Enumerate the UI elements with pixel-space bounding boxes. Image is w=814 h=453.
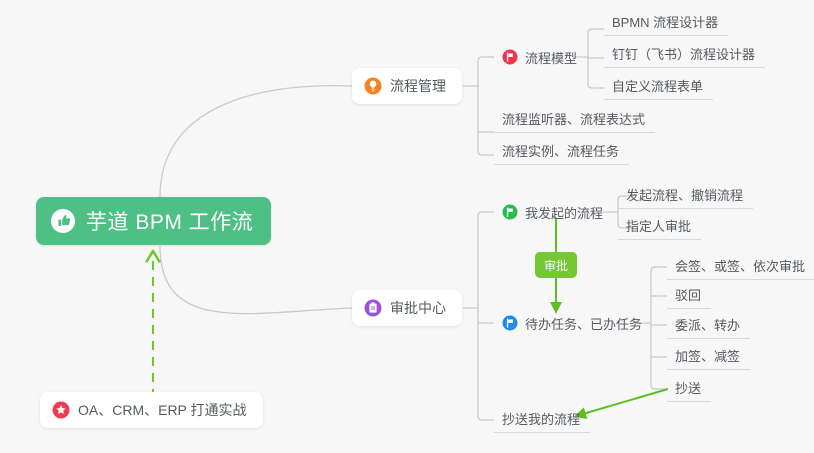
floating-tag-label: 审批 xyxy=(544,257,568,274)
flag-icon xyxy=(502,49,518,65)
node-designated-approver[interactable]: 指定人审批 xyxy=(618,212,701,240)
label-cc-to-me-processes: 抄送我的流程 xyxy=(502,409,580,428)
label-bpmn-designer: BPMN 流程设计器 xyxy=(612,12,718,31)
clipboard-icon xyxy=(364,299,382,317)
node-custom-process-form[interactable]: 自定义流程表单 xyxy=(604,72,713,100)
node-reject[interactable]: 驳回 xyxy=(667,281,711,309)
link-root-to-process-management xyxy=(160,86,352,197)
callout-node-oa-crm-erp[interactable]: OA、CRM、ERP 打通实战 xyxy=(40,392,263,428)
flag-icon xyxy=(502,315,518,331)
node-bpmn-designer[interactable]: BPMN 流程设计器 xyxy=(604,8,728,36)
label-process-instance-task: 流程实例、流程任务 xyxy=(502,141,619,160)
label-my-initiated-processes: 我发起的流程 xyxy=(525,203,603,222)
star-icon xyxy=(52,401,70,419)
lightbulb-icon xyxy=(364,77,382,95)
branch-node-process-management[interactable]: 流程管理 xyxy=(352,68,462,104)
branch-node-approval-center[interactable]: 审批中心 xyxy=(352,290,462,326)
node-cc[interactable]: 抄送 xyxy=(667,374,711,402)
label-cc: 抄送 xyxy=(675,378,701,397)
node-my-initiated-processes[interactable]: 我发起的流程 xyxy=(494,198,613,226)
label-designated-approver: 指定人审批 xyxy=(626,216,691,235)
node-todo-done-tasks[interactable]: 待办任务、已办任务 xyxy=(494,309,652,337)
branch-label-process-management: 流程管理 xyxy=(390,76,446,96)
floating-tag-approval[interactable]: 审批 xyxy=(535,252,577,278)
label-countersign-orsign-sequential: 会签、或签、依次审批 xyxy=(675,256,805,275)
node-process-listener-expression[interactable]: 流程监听器、流程表达式 xyxy=(494,105,655,133)
label-start-cancel-process: 发起流程、撤销流程 xyxy=(626,185,743,204)
root-node[interactable]: 芋道 BPM 工作流 xyxy=(36,197,271,245)
label-process-listener-expression: 流程监听器、流程表达式 xyxy=(502,109,645,128)
link-root-to-approval-center xyxy=(160,246,352,314)
node-add-remove-signer[interactable]: 加签、减签 xyxy=(667,342,750,370)
node-process-instance-task[interactable]: 流程实例、流程任务 xyxy=(494,137,629,165)
label-todo-done-tasks: 待办任务、已办任务 xyxy=(525,314,642,333)
root-label: 芋道 BPM 工作流 xyxy=(86,206,253,236)
label-process-model: 流程模型 xyxy=(525,48,577,67)
node-cc-to-me-processes[interactable]: 抄送我的流程 xyxy=(494,405,590,433)
node-start-cancel-process[interactable]: 发起流程、撤销流程 xyxy=(618,181,753,209)
label-custom-process-form: 自定义流程表单 xyxy=(612,76,703,95)
branch-label-approval-center: 审批中心 xyxy=(390,298,446,318)
node-dingtalk-feishu-designer[interactable]: 钉钉（飞书）流程设计器 xyxy=(604,40,765,68)
node-countersign-orsign-sequential[interactable]: 会签、或签、依次审批 xyxy=(667,252,814,280)
node-process-model[interactable]: 流程模型 xyxy=(494,43,587,71)
mindmap-canvas: 芋道 BPM 工作流 OA、CRM、ERP 打通实战 流程管理 xyxy=(0,0,814,453)
link-process-management-trunk xyxy=(478,57,494,155)
link-approval-center-trunk xyxy=(478,212,494,420)
link-todo-tasks-trunk xyxy=(651,267,667,389)
label-add-remove-signer: 加签、减签 xyxy=(675,346,740,365)
thumbs-up-icon xyxy=(50,208,76,234)
label-delegate-transfer: 委派、转办 xyxy=(675,315,740,334)
node-delegate-transfer[interactable]: 委派、转办 xyxy=(667,311,750,339)
link-process-model-trunk xyxy=(588,29,604,88)
label-dingtalk-feishu-designer: 钉钉（飞书）流程设计器 xyxy=(612,44,755,63)
label-reject: 驳回 xyxy=(675,285,701,304)
callout-label: OA、CRM、ERP 打通实战 xyxy=(78,400,247,420)
flag-icon xyxy=(502,204,518,220)
